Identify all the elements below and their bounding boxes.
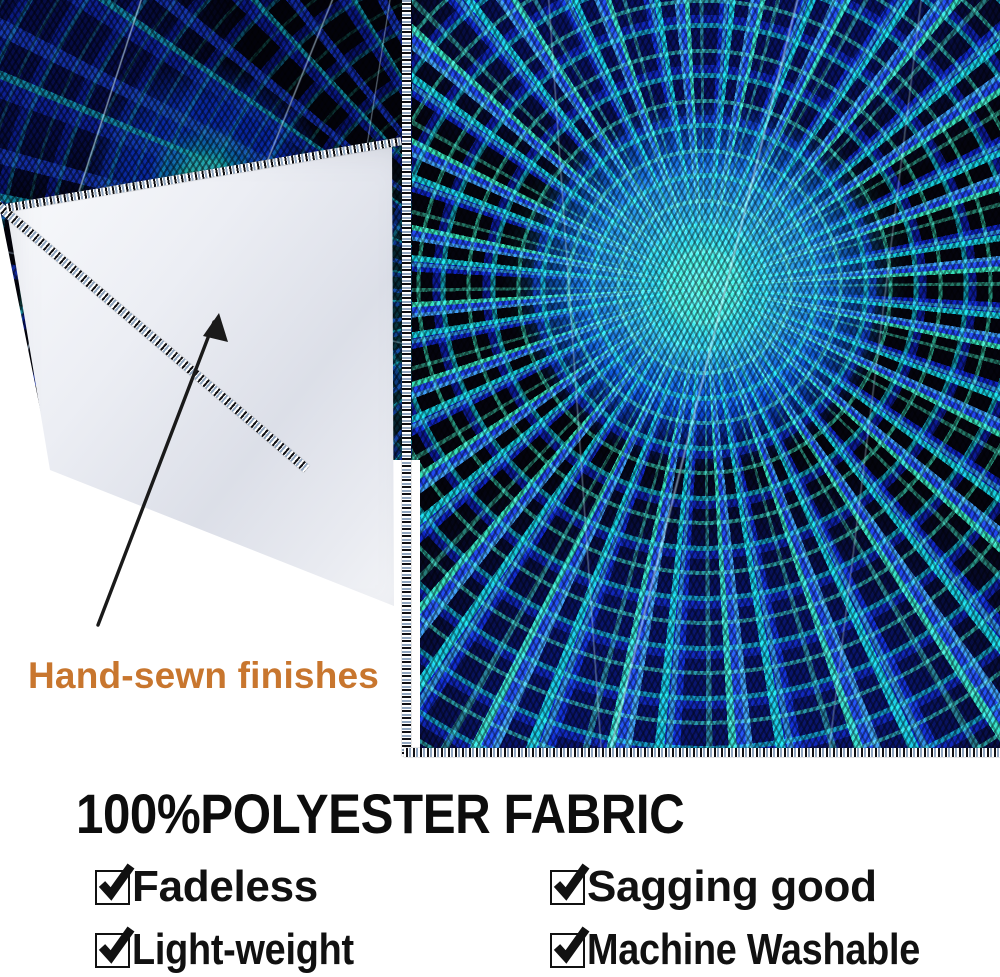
feature-item-fadeless: Fadeless [95, 862, 318, 912]
checkbox-checked-icon [550, 870, 585, 905]
fabric-info-panel: 100%POLYESTER FABRIC Fadeless Sagging go… [0, 762, 1000, 977]
feature-item-sagging-good: Sagging good [550, 862, 877, 912]
hem-bottom-edge [404, 748, 1000, 757]
hand-sewn-caption: Hand-sewn finishes [28, 655, 379, 697]
product-infographic: Hand-sewn finishes 100%POLYESTER FABRIC … [0, 0, 1000, 977]
product-photo: Hand-sewn finishes [0, 0, 1000, 762]
feature-label: Light-weight [132, 925, 354, 975]
feature-label: Fadeless [132, 862, 318, 912]
feature-item-light-weight: Light-weight [95, 925, 390, 975]
fabric-main-panel [409, 0, 1000, 755]
feature-label: Machine Washable [587, 925, 920, 975]
checkbox-checked-icon [95, 870, 130, 905]
fabric-info-title: 100%POLYESTER FABRIC [76, 781, 684, 846]
feature-label: Sagging good [587, 862, 877, 912]
checkbox-checked-icon [95, 933, 130, 968]
hem-vertical-edge [402, 0, 411, 756]
checkbox-checked-icon [550, 933, 585, 968]
feature-item-machine-washable: Machine Washable [550, 925, 974, 975]
fabric-highlight-streaks [409, 0, 1000, 755]
